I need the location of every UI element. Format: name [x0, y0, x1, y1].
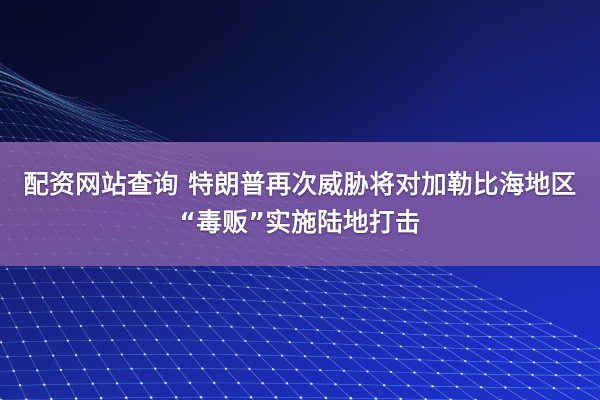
headline-line-2: “毒贩”实施陆地打击 — [179, 204, 421, 242]
banner-image: 配资网站查询 特朗普再次威胁将对加勒比海地区 “毒贩”实施陆地打击 — [0, 0, 600, 400]
headline-line-1: 配资网站查询 特朗普再次威胁将对加勒比海地区 — [23, 166, 576, 204]
headline-band: 配资网站查询 特朗普再次威胁将对加勒比海地区 “毒贩”实施陆地打击 — [0, 142, 600, 266]
